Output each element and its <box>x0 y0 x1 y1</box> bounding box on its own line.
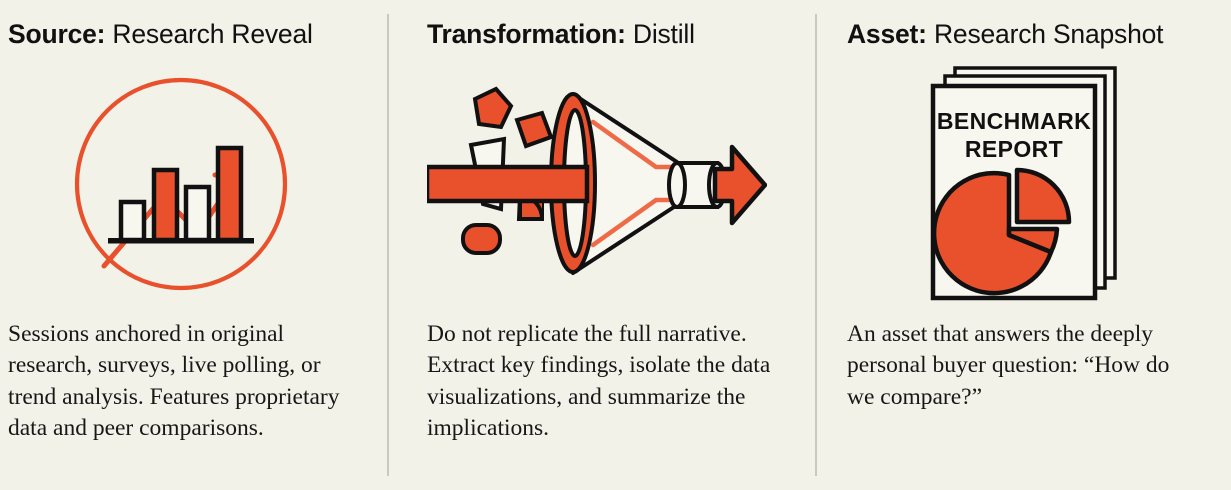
funnel-distill-arrow-icon <box>427 77 767 292</box>
report-title-line2: REPORT <box>965 136 1063 162</box>
column-asset-title-rest: Research Snapshot <box>927 19 1164 49</box>
column-transformation-body: Do not replicate the full narrative. Ext… <box>427 319 791 444</box>
benchmark-report-document-icon: BENCHMARK REPORT <box>917 62 1132 307</box>
column-transformation: Transformation: Distill <box>387 0 815 490</box>
column-transformation-title: Transformation: Distill <box>427 0 791 49</box>
column-source-title: Source: Research Reveal <box>8 0 363 49</box>
column-source-icon-area <box>8 49 363 319</box>
column-source-title-lead: Source: <box>8 19 105 49</box>
column-asset-title-lead: Asset: <box>847 19 927 49</box>
column-transformation-icon-area <box>427 49 791 319</box>
three-column-infographic: Source: Research Reveal Sessions anchore… <box>0 0 1231 490</box>
column-source-body: Sessions anchored in original research, … <box>8 319 363 444</box>
column-transformation-title-lead: Transformation: <box>427 19 626 49</box>
column-source: Source: Research Reveal Sessions anchore… <box>0 0 387 490</box>
column-asset-title: Asset: Research Snapshot <box>847 0 1211 49</box>
column-asset-icon-area: BENCHMARK REPORT <box>847 49 1211 319</box>
column-source-title-rest: Research Reveal <box>105 19 312 49</box>
report-title-line1: BENCHMARK <box>937 108 1091 134</box>
column-asset-body: An asset that answers the deeply persona… <box>847 319 1203 413</box>
column-asset: Asset: Research Snapshot BENCHMARK REPOR… <box>815 0 1231 490</box>
column-transformation-title-rest: Distill <box>626 19 695 49</box>
growth-bar-chart-circle-icon <box>66 69 296 299</box>
